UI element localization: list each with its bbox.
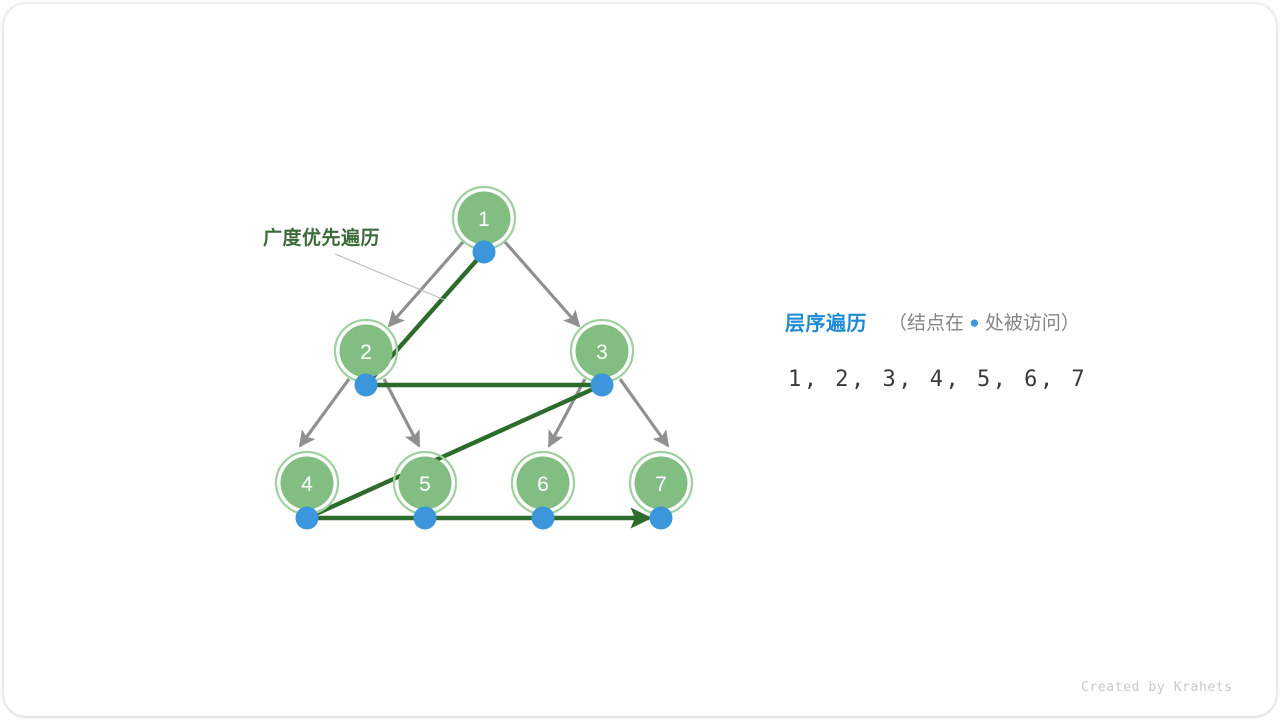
bfs-label-leader-line (335, 254, 445, 300)
tree-edge-3-6 (549, 379, 585, 446)
tree-edge-1-3 (505, 242, 579, 326)
traversal-sequence: 1, 2, 3, 4, 5, 6, 7 (788, 367, 1087, 392)
node-label: 2 (360, 341, 372, 364)
visit-dot (532, 507, 555, 530)
visit-dot (296, 507, 319, 530)
node-label: 5 (419, 473, 431, 496)
screenshot-canvas: 1 2 3 4 (0, 0, 1280, 720)
visit-dot (473, 241, 496, 264)
binary-tree-diagram: 1 2 3 4 (4, 4, 1276, 716)
slide-card: 1 2 3 4 (4, 4, 1276, 716)
visit-dot (591, 374, 614, 397)
visit-dot (650, 507, 673, 530)
visit-dot (414, 507, 437, 530)
node-label: 3 (596, 341, 608, 364)
node-label: 1 (478, 208, 490, 231)
node-label: 6 (537, 473, 549, 496)
legend-note-prefix: （结点在 (888, 313, 969, 334)
tree-edge-2-5 (384, 379, 419, 446)
tree-edge-3-7 (620, 379, 668, 446)
visit-dot (355, 374, 378, 397)
tree-edge-1-2 (389, 242, 463, 326)
node-label: 4 (301, 473, 313, 496)
tree-node-1[interactable]: 1 (453, 187, 515, 264)
legend-note: （结点在 ● 处被访问） (888, 308, 1080, 335)
tree-edge-2-4 (300, 379, 349, 446)
bfs-label: 广度优先遍历 (263, 223, 380, 250)
visit-dot-glyph-icon: ● (969, 313, 979, 332)
legend-note-suffix: 处被访问） (980, 313, 1080, 334)
legend-title: 层序遍历 (785, 307, 867, 336)
credit-text: Created by Krahets (1081, 680, 1233, 695)
node-label: 7 (655, 473, 667, 496)
